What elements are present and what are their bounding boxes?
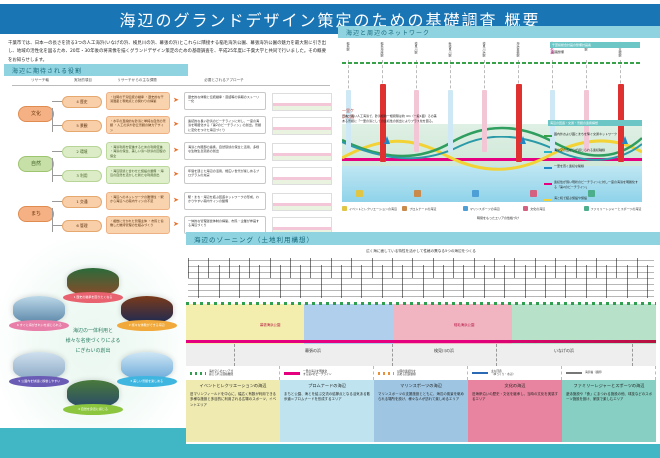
zone-band-green — [512, 304, 656, 344]
legend-line-icon — [284, 372, 300, 375]
map-road-horizontal — [188, 284, 654, 285]
axis-divider-3 — [632, 344, 633, 366]
network-legend-item: プロムナードの海辺 — [402, 206, 460, 211]
area-note-desc: 日本一長い人工海浜で、砂浜幅約一幅間隔は約 4m（一般1面）ろの美ある景観に「一… — [342, 114, 438, 123]
left-footer-bar — [0, 428, 186, 444]
legend-label: プロムナードの海辺 — [409, 207, 436, 211]
connector-vertical — [52, 208, 53, 232]
zoning-legend-item: 一里の海辺を明確化する第2のビーチライン — [280, 366, 374, 380]
rpanel-swatch-icon — [544, 183, 552, 185]
role-section-sketch — [272, 167, 332, 185]
role-subitem: 5 景観 — [62, 120, 102, 132]
network-legend-item: マリンスポーツの海辺 — [463, 206, 521, 211]
network-legend-item: ファミリーレジャーとスポーツの海辺 — [584, 206, 642, 211]
zoning-axis: 幕張の浜 検見川の浜 いなげの浜 — [186, 344, 656, 366]
zoning-map-legend: 海の空らのエリアが感じられる連絡機能一里の海辺を明確化する第2のビーチライン公園… — [186, 366, 656, 380]
zone-band-blue — [304, 304, 394, 344]
map-road — [239, 265, 240, 298]
map-road — [341, 265, 342, 298]
map-road — [290, 258, 291, 278]
map-road — [627, 265, 628, 298]
zoning-card-body: 旧マリンフィールドを中心に、幅広く有数が利用できる多様な施設と多目的に利用される… — [190, 392, 276, 408]
role-approach: 海浜と内陸部の連携、自然環境の保全と活用、多様な生物生息環境の創出 — [184, 142, 266, 160]
legend-line-icon — [472, 372, 488, 374]
network-legend: イベントとレクリエーションの海辺プロムナードの海辺マリンスポーツの海辺文化の海辺… — [342, 206, 642, 211]
map-road — [229, 258, 230, 278]
legend-swatch-icon — [584, 206, 589, 211]
map-road-horizontal — [188, 266, 654, 267]
rpanel-note: 海と机で結ぶ施設や施設 — [554, 196, 638, 201]
network-legend-item: イベントとレクリエーションの海辺 — [342, 206, 400, 211]
rpanel-note: 海や空の広がりが感じられる連続軸線 — [554, 148, 638, 153]
area-marker-icon — [472, 190, 479, 197]
legend-label: 公園の連続性を高める回遊動線 — [397, 370, 416, 377]
map-road — [443, 265, 444, 298]
map-road — [310, 258, 311, 278]
map-road — [300, 265, 301, 298]
connector-line — [52, 151, 62, 152]
map-road — [525, 265, 526, 298]
beach-line — [186, 340, 656, 343]
collage-center-text: 海辺の一体利用と様々な名使づくりによるにぎわいの創出 — [47, 326, 139, 356]
zoning-card-title: イベントとレクリエーションの海辺 — [190, 383, 276, 389]
zoning-subtitle: 広く海に面している特性を活かして性格の異なる5つの海辺をつくる — [186, 249, 656, 254]
legend-line-icon — [378, 372, 394, 375]
collage-label: 3 美しい景観を楽しめる — [117, 376, 177, 387]
map-road — [372, 258, 373, 278]
zoning-card-body: まちと公園、海とを結ぶ交流の結節点となる活気ある散歩道＝プロムナードを形成するエ… — [284, 392, 370, 403]
map-road — [219, 265, 220, 298]
rpanel-title-a: 千葉県総合計画の整備計画案 — [550, 42, 640, 48]
rpanel-sub-a: 道路整備 — [552, 50, 612, 55]
zone-band-yellow — [186, 304, 304, 344]
area-marker-icon — [356, 190, 363, 197]
connector-vertical — [52, 158, 53, 182]
network-diagram: 稲毛駅稲毛海岸駅検見川駅新検見川駅検見川浜駅海浜幕張駅幕張の浜幕張駅幕張本郷駅 … — [338, 40, 656, 230]
map-road-horizontal — [188, 296, 654, 297]
connector-line — [52, 175, 62, 176]
arrow-icon: ➤ — [173, 197, 179, 204]
legend-label: イベントとレクリエーションの海辺 — [349, 207, 397, 211]
map-road — [535, 258, 536, 278]
map-road — [382, 265, 383, 298]
connector-line — [52, 125, 62, 126]
roles-column-header-0: リサーチ軸 — [18, 78, 62, 83]
role-subitem: 3 利用 — [62, 170, 102, 182]
map-road — [351, 258, 352, 278]
zoning-card-body: マリンスポーツの支援施設とともに、海辺の風景を眺められる場所を設け、様々な人が訪… — [378, 392, 464, 403]
up-arrow-icon — [520, 136, 526, 144]
station-label: 新検見川駅 — [448, 42, 452, 60]
legend-label: ファミリーレジャーとスポーツの海辺 — [591, 207, 642, 211]
roles-divider — [12, 85, 330, 86]
rail-line — [342, 62, 642, 64]
zoning-legend-item: 公園の連続性を高める回遊動線 — [374, 366, 468, 380]
connector-line — [52, 201, 62, 202]
roles-column-header-1: 実効的項目 — [62, 78, 104, 83]
arrow-icon: ➤ — [173, 121, 179, 128]
corridor-bar — [380, 84, 386, 162]
rpanel-note: 園内外および園とまちを繋ぐ交通ネットワーク — [554, 132, 638, 137]
rpanel-swatch-icon — [544, 135, 552, 137]
corridor-bar — [448, 90, 453, 152]
park-label-1: 稲毛海浜公園 — [454, 322, 474, 327]
rpanel-note: 一里を貫く連続な稜線 — [554, 164, 638, 169]
map-road — [433, 258, 434, 278]
role-issue: ・海辺へのネットワークの脆弱性 ・駅から海辺への案内サインの不足 — [106, 192, 170, 210]
zoning-card-title: ファミリーレジャーとスポーツの海辺 — [566, 383, 652, 389]
map-road — [504, 265, 505, 298]
role-issue: ・海浜利用を促進するための利用促進 ・海浜の保全、美しい浜〜砂浜の回復の保全 — [106, 142, 170, 160]
station-label: 検見川浜駅 — [482, 42, 486, 60]
map-road — [565, 265, 566, 298]
map-road — [280, 265, 281, 298]
map-road-horizontal — [188, 278, 654, 279]
collage-label: 5 公園内を快適に移動しやすい — [9, 376, 69, 387]
map-road — [270, 258, 271, 278]
network-legend-item: 文化の海辺 — [523, 206, 581, 211]
network-bracket-label: 時間をもったエリアの性格づけ — [418, 216, 578, 221]
role-issue: ・海辺環境と合わせた施設の整備 ・海辺の自然を活かした新たな利用創出 — [106, 166, 170, 184]
zoning-card: マリンスポーツの海辺マリンスポーツの支援施設とともに、海辺の風景を眺められる場所… — [374, 380, 468, 442]
map-road — [494, 258, 495, 278]
legend-swatch-icon — [463, 206, 468, 211]
corridor-bar — [516, 84, 522, 162]
rpanel-title-b: 海辺の回遊・交通・景観の連携構想 — [548, 120, 642, 126]
zoning-card: 文化の海辺旧海岸沿いの歴史・文化を継承し、当時の文化を実感するエリア — [468, 380, 562, 442]
rpanel-swatch-icon — [544, 199, 552, 201]
map-road — [198, 265, 199, 298]
rpanel-swatch-icon — [544, 167, 552, 169]
zoning-card-title: マリンスポーツの海辺 — [378, 383, 464, 389]
role-section-sketch — [272, 93, 332, 111]
role-issue: ・複数に分かれた管理主体 ・市民と協働した維持管理の仕組みづくり — [106, 216, 170, 234]
poster-page: 海辺のグランドデザイン策定のための基礎調査 概要 千葉市では、日本一の長さを誇る… — [0, 0, 660, 458]
roles-column-header-3: 必要とされるアプローチ — [184, 78, 264, 83]
station-label: 稲毛駅 — [346, 42, 350, 60]
legend-swatch-icon — [523, 206, 528, 211]
up-arrow-icon — [384, 136, 390, 144]
map-road — [586, 265, 587, 298]
axis-segment-2: いなげの浜 — [496, 348, 632, 354]
axis-segment-0: 幕張の浜 — [234, 348, 392, 354]
map-road-horizontal — [188, 290, 654, 291]
role-category: まち — [18, 206, 54, 222]
map-road — [361, 265, 362, 298]
legend-label: マリンスポーツの海辺 — [470, 207, 500, 211]
up-arrow-icon — [622, 136, 628, 144]
role-section-sketch — [272, 143, 332, 161]
role-issue: ・往時の干潟伝統の継承 ・歴史的な干潟遺産と現地点との関わりの構築 — [106, 92, 170, 110]
map-road — [249, 258, 250, 278]
legend-line-icon — [190, 372, 206, 375]
intro-paragraph: 千葉市では、日本一の長さを誇る3つの人工海浜(いなげの浜、検見川の浜、幕張の浜)… — [8, 40, 326, 65]
zoning-card-body: 旧海岸沿いの歴史・文化を継承し、当時の文化を実感するエリア — [472, 392, 558, 403]
section-header-roles: 海辺に期待される役割 — [4, 64, 188, 76]
map-road — [402, 265, 403, 298]
map-road-horizontal — [188, 272, 654, 273]
zoning-card: ファミリーレジャーとスポーツの海辺遊泳施設や「食」にまつわる施設の他、球技などの… — [562, 380, 656, 442]
connector-line — [52, 225, 62, 226]
area-marker-icon — [530, 190, 537, 197]
map-road — [392, 258, 393, 278]
role-subitem: 4 歴史 — [62, 96, 102, 108]
role-approach: 連続的な長い砂浜のビーチラインに対し、一度の海浜を明確化する「第2のビーチライン… — [184, 116, 266, 134]
map-road — [647, 265, 648, 298]
section-header-zoning: 海辺のゾーニング（土地利用構想） — [186, 232, 660, 245]
zoning-map: 幕張海浜公園 稲毛海浜公園 — [186, 256, 656, 344]
map-road — [474, 258, 475, 278]
map-road — [484, 265, 485, 298]
role-approach: 駅・まち・海辺を結ぶ回遊ネットワークの形成、わかりやすい案内サインの整備 — [184, 192, 266, 210]
legend-swatch-icon — [342, 206, 347, 211]
green-dot-line — [186, 302, 656, 305]
map-road — [576, 258, 577, 278]
zoning-legend-item: 海の空らのエリアが感じられる連絡機能 — [186, 366, 280, 380]
corridor-bar — [482, 90, 487, 152]
arrow-icon: ➤ — [173, 97, 179, 104]
map-road — [514, 258, 515, 278]
role-subitem: 2 環境 — [62, 146, 102, 158]
zoning-card-title: プロムナードの海辺 — [284, 383, 370, 389]
role-approach: 歴史的な体験と伝統継承・昔話等の情報のストーリー化 — [184, 92, 266, 110]
map-road — [453, 258, 454, 278]
zoning-legend-item: 海浜軸（連携） — [562, 366, 656, 380]
legend-label: 文化の海辺 — [530, 207, 545, 211]
footer-bar — [0, 444, 660, 458]
zoning-cards: イベントとレクリエーションの海辺旧マリンフィールドを中心に、幅広く有数が利用でき… — [186, 380, 656, 442]
role-approach: 年間を通じた海辺の活用、幅広い世代が楽しめるプログラムの充実 — [184, 166, 266, 184]
rpanel-note: 連続性が弱い現状のビーチラインに対し一度の海浜を明確化する「第2のビーチライン」 — [554, 180, 638, 190]
map-road — [555, 258, 556, 278]
collage-center-line: 海辺の一体利用と — [47, 326, 139, 336]
role-category: 自然 — [18, 156, 54, 172]
roles-column-header-2: リサーチからの主な課題 — [104, 78, 170, 83]
zoning-card: イベントとレクリエーションの海辺旧マリンフィールドを中心に、幅広く有数が利用でき… — [186, 380, 280, 442]
legend-label: 海の空らのエリアが感じられる連絡機能 — [209, 370, 233, 377]
map-road — [259, 265, 260, 298]
map-road — [616, 258, 617, 278]
map-road — [423, 265, 424, 298]
map-road — [331, 258, 332, 278]
role-subitem: 1 交通 — [62, 196, 102, 208]
rpanel-swatch-icon — [544, 151, 552, 153]
map-road — [606, 265, 607, 298]
legend-label: 海浜軸（連携） — [585, 371, 604, 375]
legend-label: 主な回遊（ゆっくり・水辺） — [491, 370, 515, 377]
map-road — [188, 258, 189, 278]
arrow-icon: ➤ — [173, 221, 179, 228]
role-subitem: 6 管理 — [62, 220, 102, 232]
legend-line-icon — [566, 372, 582, 374]
map-road — [208, 258, 209, 278]
zoning-card-body: 遊泳施設や「食」にまつわる施設の他、球技などのスポーツ施設を設け、家族で楽しむエ… — [566, 392, 652, 403]
zone-band-pink — [394, 304, 512, 344]
connector-line — [52, 101, 62, 102]
zoning-card: プロムナードの海辺まちと公園、海とを結ぶ交流の結節点となる活気ある散歩道＝プロム… — [280, 380, 374, 442]
legend-swatch-icon — [402, 206, 407, 211]
zoning-card-title: 文化の海辺 — [472, 383, 558, 389]
role-section-sketch — [272, 117, 332, 135]
arrow-icon: ➤ — [173, 171, 179, 178]
map-road-horizontal — [188, 260, 654, 261]
collage-label: 1 歴史の継承を図りたくなる — [63, 292, 123, 303]
collage-label: 4 自然を身近に感じる — [63, 404, 123, 415]
area-marker-icon — [414, 190, 421, 197]
legend-label: 一里の海辺を明確化する第2のビーチライン — [303, 370, 332, 377]
arrow-icon: ➤ — [173, 147, 179, 154]
map-road — [637, 258, 638, 278]
zoning-legend-item: 主な回遊（ゆっくり・水辺） — [468, 366, 562, 380]
station-label: 海浜幕張駅 — [516, 42, 520, 60]
park-label-0: 幕張海浜公園 — [260, 322, 280, 327]
connector-vertical — [52, 108, 53, 132]
map-road — [412, 258, 413, 278]
role-category: 文化 — [18, 106, 54, 122]
role-issue: ・水平の直線的な砂浜と単純な自然の景観 ・人工の浜や砂丘景観の魅力デザイン — [106, 116, 170, 134]
station-label: 検見川駅 — [414, 42, 418, 60]
map-road — [321, 265, 322, 298]
map-road — [545, 265, 546, 298]
map-road — [463, 265, 464, 298]
collage-center-line: にぎわいの創出 — [47, 346, 139, 356]
map-road — [596, 258, 597, 278]
axis-segment-1: 検見川の浜 — [392, 348, 496, 354]
section-header-network: 海辺と周辺のネットワーク — [338, 26, 660, 38]
role-section-sketch — [272, 193, 332, 211]
collage-center-line: 様々な名使づくりによる — [47, 336, 139, 346]
station-label: 稲毛海岸駅 — [380, 42, 384, 60]
roles-diagram: リサーチ軸 実効的項目 リサーチからの主な課題 必要とされるアプローチ 4 歴史… — [4, 78, 334, 230]
